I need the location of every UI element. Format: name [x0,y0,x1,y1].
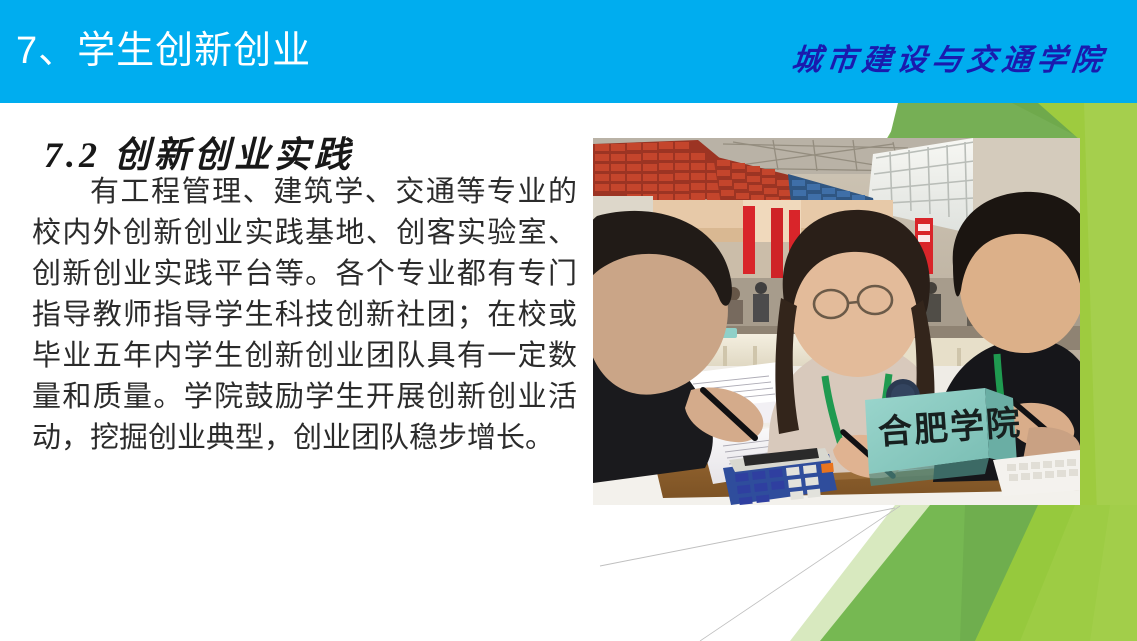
deco-bottom-mid-wedge [820,505,1137,641]
deco-bottom-bright-wedge [975,505,1137,641]
deco-bottom-lime-edge [1090,505,1137,641]
photo-students-competition: 合肥学院 [593,138,1080,505]
deco-hairline-diagonal-2 [700,506,900,641]
deco-bottom-mid-dark-wedge [960,505,1055,641]
deco-bottom-bright-wedge-2 [1020,505,1137,641]
section-subtitle: 7.2 创新创业实践 [44,126,354,178]
slide-canvas: 合肥学院 [0,0,1137,641]
slide-header-bar: 7、学生创新创业 城市建设与交通学院 [0,0,1137,103]
deco-bottom-pale-wedge [790,505,1005,641]
deco-right-lime-strip [1080,103,1137,641]
body-paragraph: 有工程管理、建筑学、交通等专业的校内外创新创业实践基地、创客实验室、创新创业实践… [32,172,577,459]
deco-right-lime-strip-light [1084,103,1137,641]
organization-name: 城市建设与交通学院 [790,35,1110,79]
page-title: 7、学生创新创业 [16,28,311,74]
deco-top-darkgreen-wedge [1012,103,1080,141]
deco-hairline-diagonal [600,508,895,566]
